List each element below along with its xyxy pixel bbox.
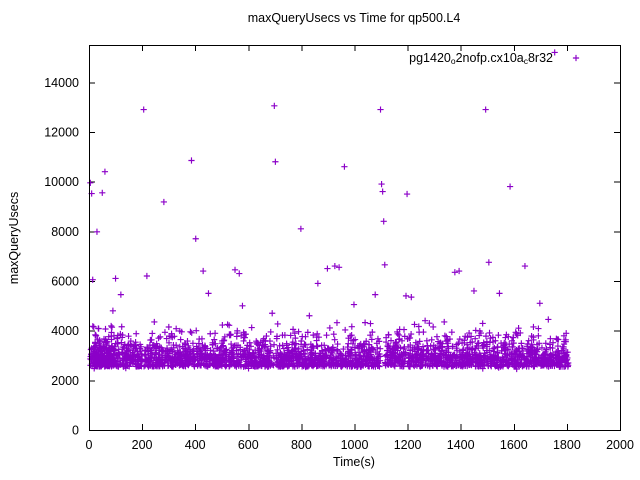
y-tick-label: 2000 [51, 374, 79, 388]
legend-text-part: pg1420 [409, 51, 451, 65]
x-tick-label: 600 [238, 438, 259, 452]
chart-container: maxQueryUsecs vs Time for qp500.L4 maxQu… [0, 0, 640, 480]
x-tick-label: 1600 [500, 438, 528, 452]
y-tick-label: 10000 [44, 175, 79, 189]
x-tick-label: 1200 [394, 438, 422, 452]
x-tick-label: 400 [185, 438, 206, 452]
x-tick-label: 200 [132, 438, 153, 452]
y-axis-label: maxQueryUsecs [7, 192, 21, 284]
y-tick-label: 14000 [44, 76, 79, 90]
legend-text-part: 2nofp.cx10a [456, 51, 524, 65]
x-tick-label: 0 [86, 438, 93, 452]
y-tick-label: 12000 [44, 125, 79, 139]
scatter-plot-svg: maxQueryUsecs vs Time for qp500.L4 maxQu… [0, 0, 640, 480]
x-tick-label: 800 [291, 438, 312, 452]
y-tick-label: 0 [72, 424, 79, 438]
x-tick-label: 1800 [553, 438, 581, 452]
x-tick-label: 1400 [447, 438, 475, 452]
x-axis-label: Time(s) [333, 455, 375, 469]
y-tick-label: 6000 [51, 274, 79, 288]
y-tick-label: 4000 [51, 324, 79, 338]
legend-label: pg1420o2nofp.cx10ac8r32 [409, 51, 553, 66]
plot-background [0, 0, 640, 480]
legend-text-part: 8r32 [528, 51, 553, 65]
x-tick-label: 2000 [606, 438, 634, 452]
y-tick-label: 8000 [51, 225, 79, 239]
x-tick-label: 1000 [341, 438, 369, 452]
chart-title: maxQueryUsecs vs Time for qp500.L4 [248, 11, 461, 25]
